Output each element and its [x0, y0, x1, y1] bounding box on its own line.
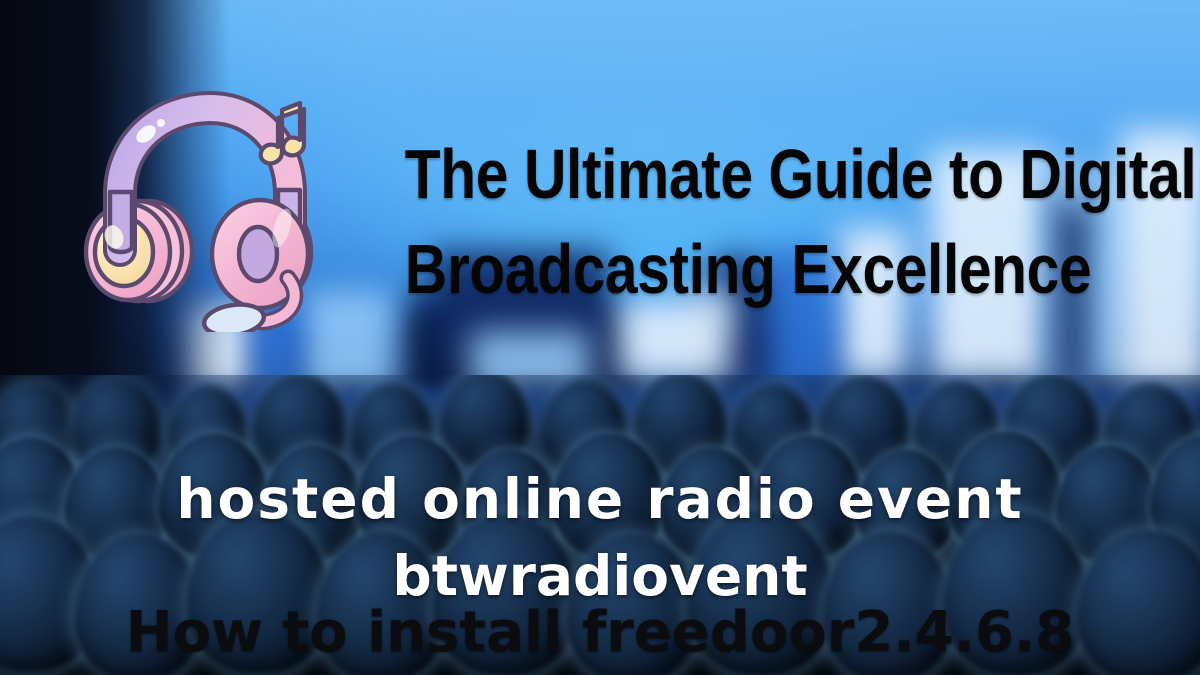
subtitle-line-2: btwradiovent — [0, 549, 1200, 604]
headline-line-1: The Ultimate Guide to Digital — [405, 140, 1085, 209]
subtitle-block: hosted online radio event btwradiovent — [0, 472, 1200, 604]
subtitle-line-1: hosted online radio event — [0, 472, 1200, 527]
headline-line-2: Broadcasting Excellence — [405, 235, 1085, 304]
headset-icon — [82, 82, 332, 332]
stage-panel-white-4 — [620, 300, 730, 380]
footer-text: How to install freedoor2.4.6.8 — [0, 600, 1200, 665]
poster-image: The Ultimate Guide to Digital Broadcasti… — [0, 0, 1200, 675]
headline-block: The Ultimate Guide to Digital Broadcasti… — [340, 140, 1150, 303]
